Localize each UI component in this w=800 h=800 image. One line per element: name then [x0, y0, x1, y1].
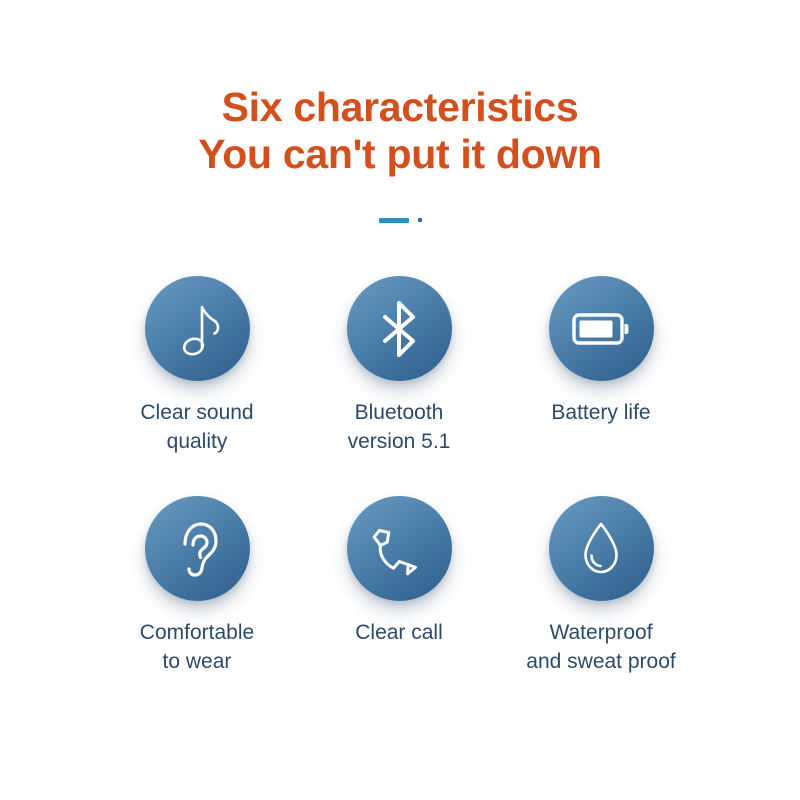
feature-caption: Comfortable to wear: [140, 618, 254, 676]
title-divider: [0, 214, 800, 226]
feature-item-battery[interactable]: Battery life: [500, 276, 702, 456]
feature-caption-line-1: Waterproof: [549, 621, 652, 644]
ear-icon: [175, 520, 219, 578]
feature-caption: Bluetooth version 5.1: [348, 398, 451, 456]
feature-item-clear-call[interactable]: Clear call: [298, 496, 500, 676]
feature-grid: Clear sound quality Bluetooth version 5.…: [96, 276, 704, 676]
feature-caption-line-2: quality: [167, 430, 228, 453]
feature-caption: Clear sound quality: [140, 398, 253, 456]
feature-item-waterproof[interactable]: Waterproof and sweat proof: [500, 496, 702, 676]
feature-icon-badge: [145, 276, 250, 381]
promo-page: Six characteristics You can't put it dow…: [0, 0, 800, 800]
feature-caption: Waterproof and sweat proof: [526, 618, 675, 676]
feature-caption-line-2: to wear: [163, 650, 232, 673]
feature-icon-badge: [347, 276, 452, 381]
feature-icon-badge: [347, 496, 452, 601]
feature-icon-badge: [549, 276, 654, 381]
feature-item-bluetooth[interactable]: Bluetooth version 5.1: [298, 276, 500, 456]
feature-caption-line-2: and sweat proof: [526, 650, 675, 673]
headline-line-1: Six characteristics: [0, 84, 800, 131]
divider-dot: [418, 218, 422, 222]
headline-line-2: You can't put it down: [0, 131, 800, 178]
battery-icon: [572, 312, 630, 346]
feature-icon-badge: [145, 496, 250, 601]
feature-caption-line-1: Comfortable: [140, 621, 254, 644]
feature-caption-line-1: Battery life: [551, 401, 650, 424]
phone-handset-icon: [372, 522, 426, 576]
bluetooth-icon: [378, 300, 420, 358]
music-note-icon: [172, 302, 222, 356]
feature-caption: Battery life: [551, 398, 650, 427]
feature-item-comfortable[interactable]: Comfortable to wear: [96, 496, 298, 676]
feature-caption: Clear call: [355, 618, 443, 647]
feature-icon-badge: [549, 496, 654, 601]
divider-bar: [379, 218, 409, 223]
feature-caption-line-1: Clear call: [355, 621, 443, 644]
feature-caption-line-1: Bluetooth: [355, 401, 444, 424]
feature-item-clear-sound[interactable]: Clear sound quality: [96, 276, 298, 456]
feature-caption-line-1: Clear sound: [140, 401, 253, 424]
feature-caption-line-2: version 5.1: [348, 430, 451, 453]
water-drop-icon: [578, 520, 624, 578]
page-title: Six characteristics You can't put it dow…: [0, 84, 800, 178]
